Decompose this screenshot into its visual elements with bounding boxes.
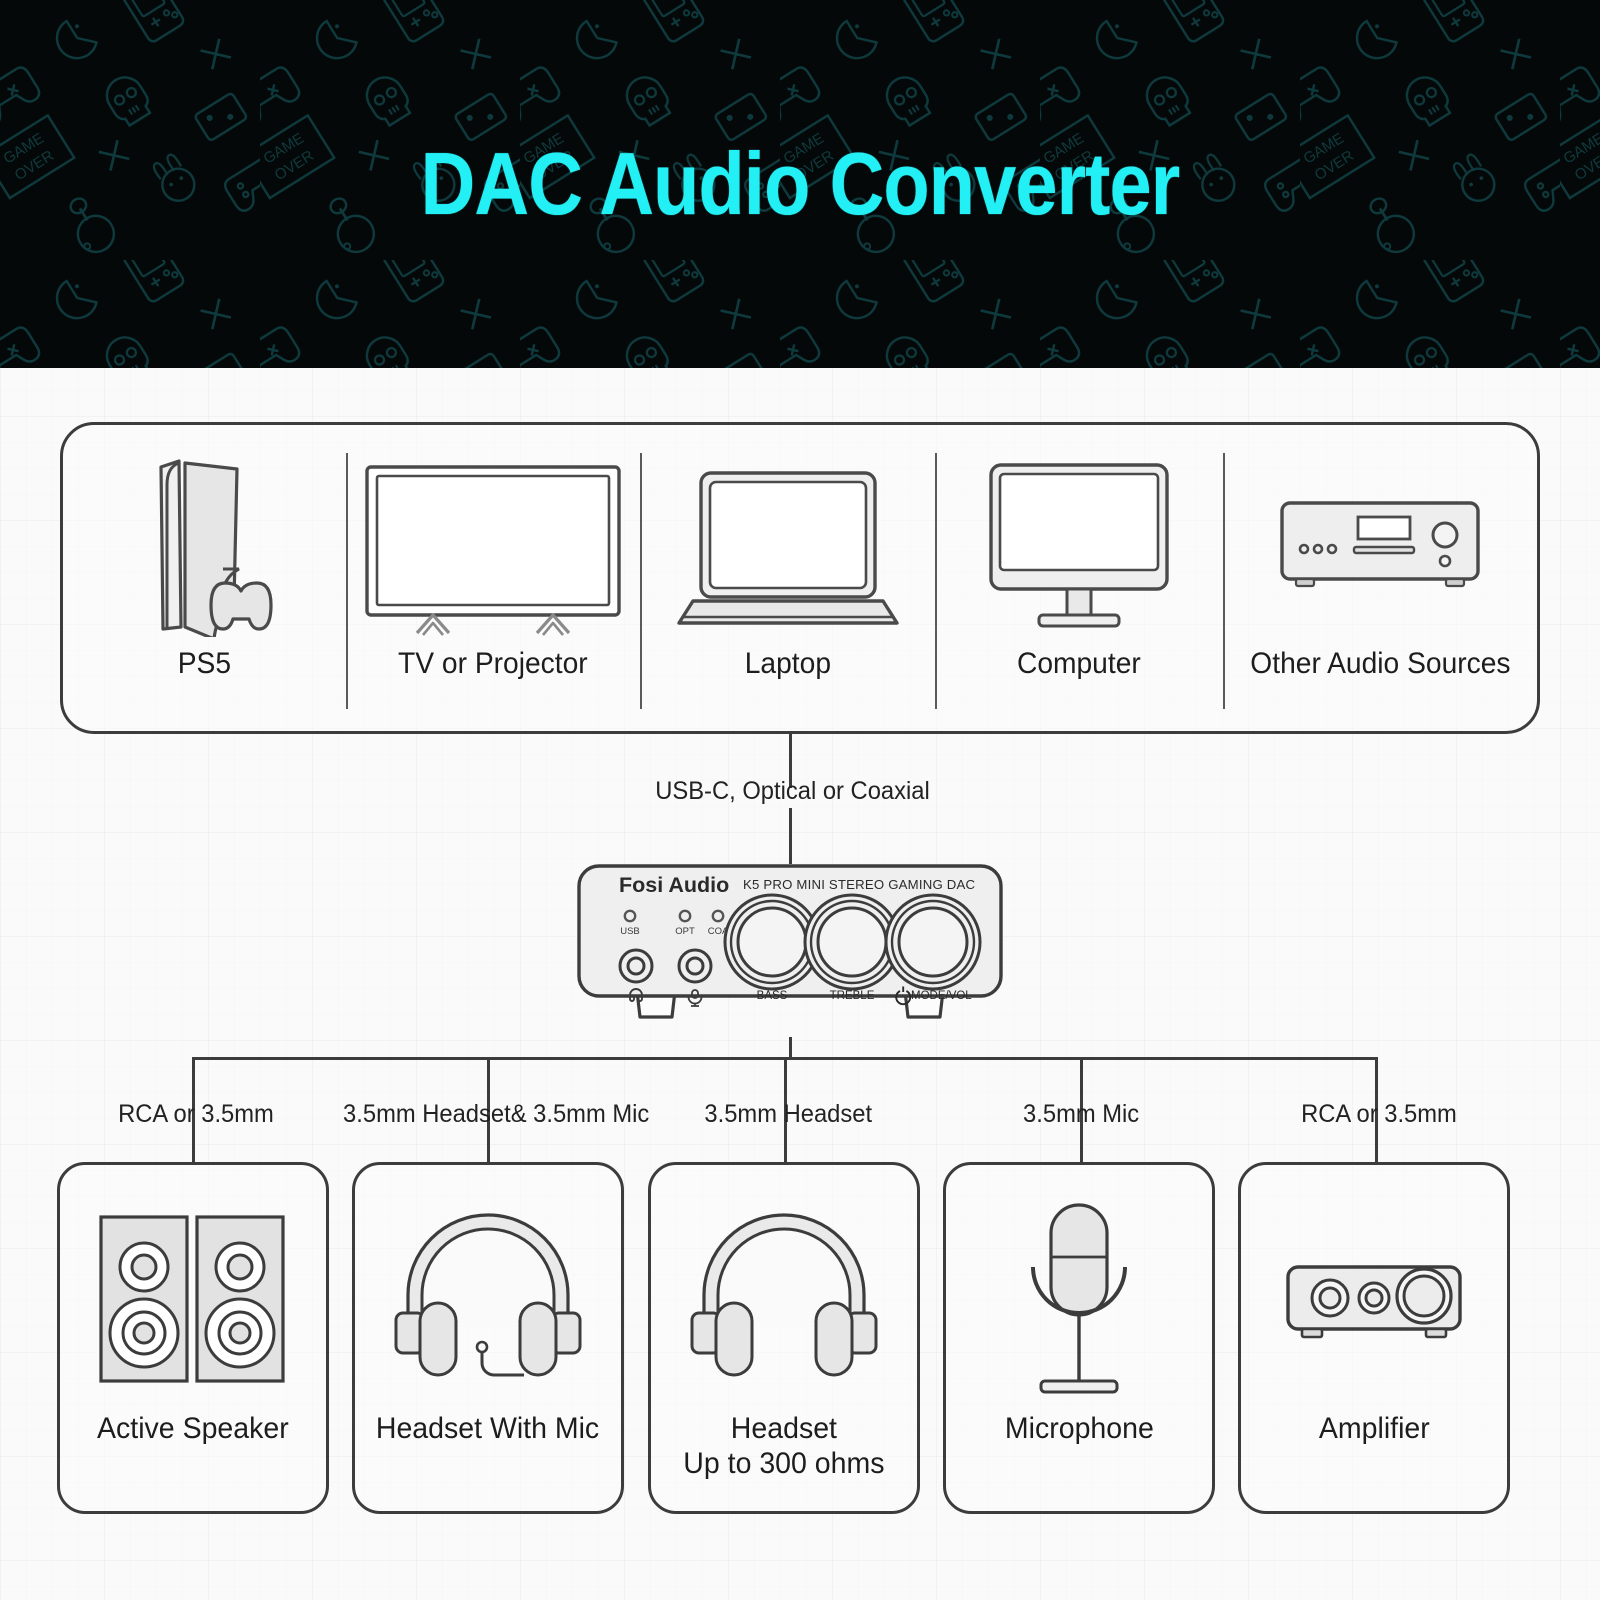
output-card-label-line1: Headset [731, 1412, 837, 1445]
knob-label-treble: TREBLE [830, 990, 875, 1002]
output-bus-stem [789, 1037, 792, 1059]
output-card-label: Headset Up to 300 ohms [683, 1411, 884, 1482]
output-card-label: Amplifier [1319, 1411, 1430, 1446]
knob-label-bass: BASS [757, 990, 788, 1002]
knob-label-mode-vol: MODE/VOL [911, 990, 972, 1002]
output-card-label: Active Speaker [97, 1411, 289, 1446]
output-card-label-line1: Headset With Mic [376, 1412, 599, 1445]
desktop-monitor-icon [935, 451, 1223, 637]
output-card-label-line1: Microphone [1005, 1412, 1154, 1445]
input-connector-line-lower [789, 808, 792, 864]
source-item-computer[interactable]: Computer [935, 425, 1223, 737]
amplifier-icon [1241, 1191, 1507, 1403]
source-item-tv-or-projector[interactable]: TV or Projector [346, 425, 640, 737]
infographic-page: GAME OVER [0, 0, 1600, 1600]
source-item-label: PS5 [178, 647, 231, 681]
headset-with-mic-icon [355, 1191, 621, 1403]
page-title: DAC Audio Converter [112, 0, 1488, 368]
output-card-headset[interactable]: Headset Up to 300 ohms [648, 1162, 920, 1514]
output-connection-label: 3.5mm Headset [704, 1100, 872, 1129]
headphones-icon [651, 1191, 917, 1403]
dac-led-label-usb: USB [620, 926, 640, 937]
output-card-label-line1: Amplifier [1319, 1412, 1430, 1445]
source-item-ps5[interactable]: PS5 [63, 425, 346, 737]
header-banner: GAME OVER [0, 0, 1600, 368]
output-card-amplifier[interactable]: Amplifier [1238, 1162, 1510, 1514]
tv-icon [346, 451, 640, 637]
source-item-label: Other Audio Sources [1250, 647, 1510, 681]
source-item-laptop[interactable]: Laptop [640, 425, 935, 737]
dac-device[interactable]: Fosi Audio K5 PRO MINI STEREO GAMING DAC… [575, 862, 1005, 1037]
studio-microphone-icon [946, 1191, 1212, 1403]
output-card-label: Microphone [1005, 1411, 1154, 1446]
output-connection-label: 3.5mm Mic [1023, 1100, 1139, 1129]
output-card-active-speaker[interactable]: Active Speaker [57, 1162, 329, 1514]
av-receiver-icon [1223, 451, 1537, 637]
output-connection-label: RCA or 3.5mm [1301, 1100, 1457, 1129]
output-connection-label: RCA or 3.5mm [118, 1100, 274, 1129]
output-connection-label: 3.5mm Headset& 3.5mm Mic [343, 1100, 649, 1129]
source-item-other-audio-sources[interactable]: Other Audio Sources [1223, 425, 1537, 737]
output-card-label-line2: Up to 300 ohms [683, 1446, 884, 1481]
headphone-jack-icon [620, 950, 652, 982]
knob-mode-vol[interactable] [886, 895, 980, 989]
source-item-label: Laptop [744, 647, 830, 681]
output-card-headset-with-mic[interactable]: Headset With Mic [352, 1162, 624, 1514]
laptop-icon [640, 451, 935, 637]
dac-led-label-opt: OPT [675, 926, 695, 937]
output-card-label: Headset With Mic [376, 1411, 599, 1446]
output-card-label-line1: Active Speaker [97, 1412, 289, 1445]
speaker-pair-icon [60, 1191, 326, 1403]
ps5-console-icon [63, 451, 346, 637]
microphone-jack-icon [679, 950, 711, 982]
source-item-label: TV or Projector [398, 647, 588, 681]
dac-brand: Fosi Audio [619, 873, 729, 897]
dac-model: K5 PRO MINI STEREO GAMING DAC [743, 877, 975, 892]
input-connection-label: USB-C, Optical or Coaxial [655, 777, 930, 806]
audio-sources-panel: PS5 TV or Projector [60, 422, 1540, 734]
source-item-label: Computer [1017, 647, 1141, 681]
output-card-microphone[interactable]: Microphone [943, 1162, 1215, 1514]
